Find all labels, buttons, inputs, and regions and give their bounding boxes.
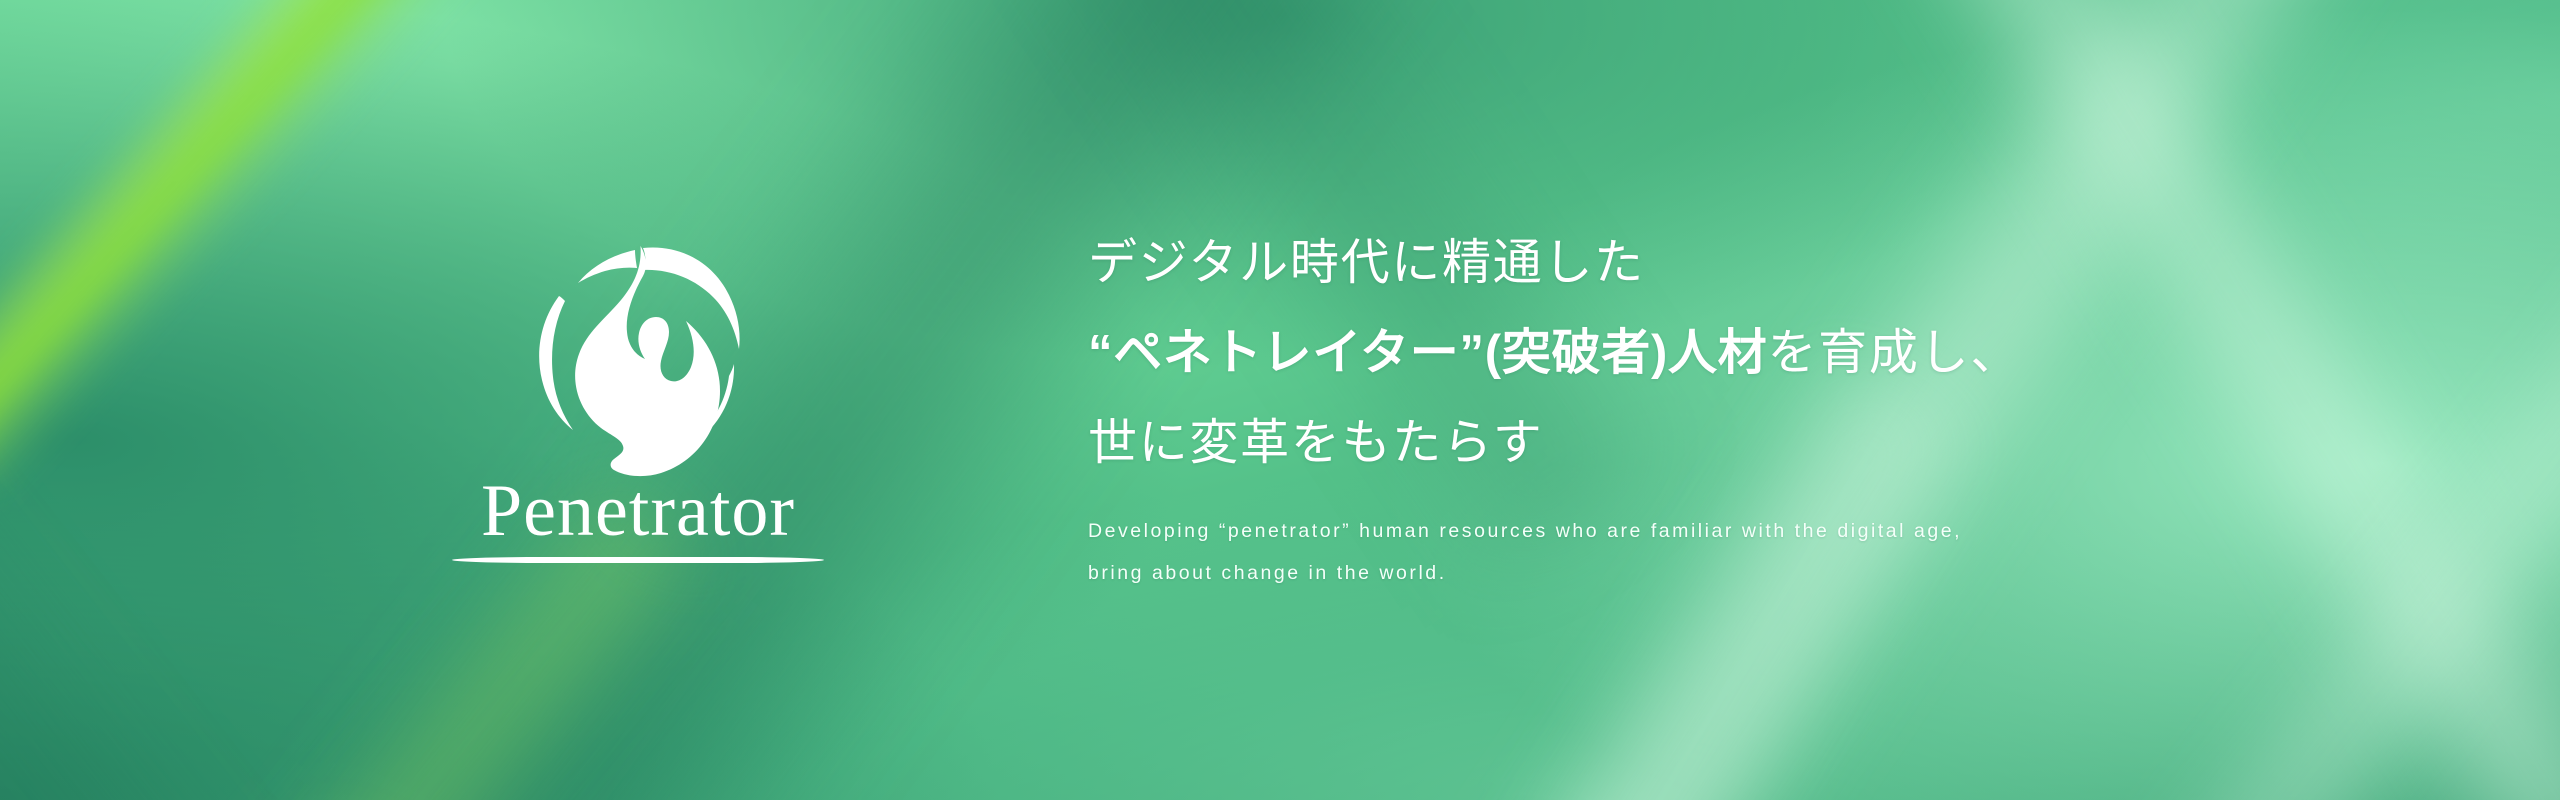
subcopy-line-2: bring about change in the world. xyxy=(1088,552,2268,594)
headline-quote-open: “ xyxy=(1088,326,1113,380)
hero-content: Penetrator デジタル時代に精通した “ペネトレイター”(突破者)人材を… xyxy=(0,0,2560,800)
brand-wordmark-rule xyxy=(452,557,824,563)
headline-quote-close: ” xyxy=(1459,326,1484,380)
brand-lockup: Penetrator xyxy=(448,228,828,563)
brand-wordmark: Penetrator xyxy=(481,474,795,548)
headline-line-1: デジタル時代に精通した xyxy=(1088,218,2268,308)
headline-emphasis: ペネトレイター xyxy=(1113,326,1459,380)
headline-line-2: “ペネトレイター”(突破者)人材を育成し、 xyxy=(1088,308,2268,398)
penetrator-flame-logo-icon xyxy=(513,228,763,478)
subcopy: Developing “penetrator” human resources … xyxy=(1088,510,2268,594)
headline-line-3: 世に変革をもたらす xyxy=(1088,398,2268,488)
headline-tail: を育成し、 xyxy=(1767,326,2021,380)
subcopy-line-1: Developing “penetrator” human resources … xyxy=(1088,510,2268,552)
hero-copy: デジタル時代に精通した “ペネトレイター”(突破者)人材を育成し、 世に変革をも… xyxy=(1088,218,2268,594)
headline-paren-term: (突破者)人材 xyxy=(1485,326,1768,380)
hero-banner: Penetrator デジタル時代に精通した “ペネトレイター”(突破者)人材を… xyxy=(0,0,2560,800)
